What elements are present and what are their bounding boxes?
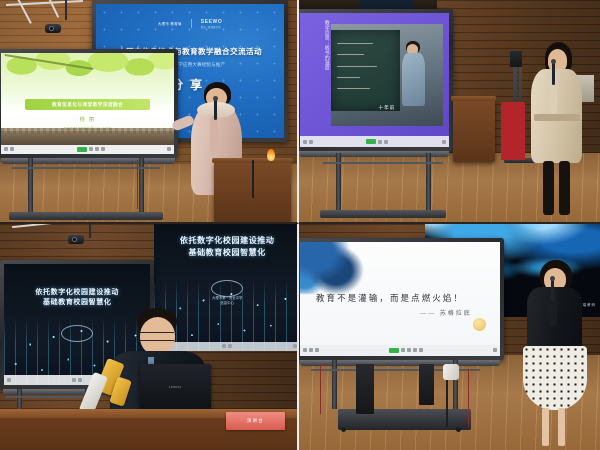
collage-panel-bottom-right: 智慧课堂 • 云端教研 教育不是灌输，而是点燃火焰！ —— 苏格拉底 bbox=[299, 224, 600, 450]
glasses-icon bbox=[140, 332, 174, 341]
purple-screen: 教学反思：板书的温度 bbox=[300, 13, 449, 147]
wooden-lectern bbox=[453, 100, 495, 162]
toolbar-icon-settings[interactable] bbox=[493, 348, 497, 352]
camera-mount bbox=[89, 224, 91, 238]
toolbar-icon-more[interactable] bbox=[419, 348, 423, 352]
quote-display: 教育不是灌输，而是点燃火焰！ —— 苏格拉底 bbox=[299, 238, 504, 360]
collage-panel-top-right: 教学反思：板书的温度 bbox=[299, 0, 600, 224]
video-figure-body bbox=[402, 53, 425, 106]
desk-sign-label: 演讲台 bbox=[247, 418, 264, 424]
quote-attribution: —— 苏格拉底 bbox=[420, 308, 472, 317]
presenter-boot-left bbox=[543, 161, 554, 215]
projected-slide-title-line1: 依托数字化校园建设推动 bbox=[163, 235, 291, 247]
presenter-name: 杨 丽 bbox=[1, 116, 174, 123]
projected-slide-title-line2: 基础教育校园智慧化 bbox=[163, 247, 291, 259]
handheld-microphone bbox=[552, 62, 555, 85]
floor-cable bbox=[137, 160, 138, 209]
chalk-line bbox=[337, 66, 377, 67]
stacked-red-chairs bbox=[501, 102, 525, 160]
chalk-line bbox=[337, 43, 373, 44]
toolbar-icon-settings[interactable] bbox=[442, 140, 446, 144]
lectern-top bbox=[451, 96, 496, 101]
projected-slide-title: 依托数字化校园建设推动 基础教育校园智慧化 bbox=[163, 235, 291, 258]
speaker-box-2 bbox=[419, 364, 434, 405]
toolbar-icon-pen[interactable] bbox=[222, 344, 226, 348]
stand-top-box bbox=[510, 51, 522, 67]
speaker-box bbox=[356, 364, 374, 414]
toolbar-icon-eraser[interactable] bbox=[401, 348, 405, 352]
presenter-right-arm bbox=[210, 116, 218, 152]
secondary-slide-title-line1: 依托数字化校园建设推动 bbox=[13, 288, 142, 298]
video-teacher-figure bbox=[400, 40, 427, 113]
camera-mount bbox=[65, 0, 67, 20]
collage-panel-bottom-left: 依托数字化校园建设推动 基础教育校园智慧化 大理市第一完全中学 信息中心 bbox=[0, 224, 299, 450]
floor-microphone bbox=[443, 364, 458, 380]
presenter-coat-belt bbox=[534, 114, 580, 121]
classroom-video-display: 教学反思：板书的温度 bbox=[299, 9, 453, 151]
soil-decoration bbox=[1, 131, 174, 144]
toolbar-icon-menu[interactable] bbox=[4, 147, 8, 151]
stand-crossbar bbox=[12, 167, 161, 169]
presenter-leg-left bbox=[542, 408, 549, 446]
embedded-video: 十年前 bbox=[331, 24, 442, 126]
green-slide: 教育信息化与课堂教学深度融合 杨 丽 317317360@qq.com bbox=[1, 53, 174, 154]
toolbar-icon-menu[interactable] bbox=[7, 378, 11, 382]
display-toolbar[interactable] bbox=[300, 136, 449, 147]
desk-sign: 演讲台 bbox=[226, 412, 285, 430]
display-toolbar[interactable] bbox=[1, 145, 174, 154]
dali-education-bureau-logo: 大理市 教育局 bbox=[158, 22, 182, 26]
toolbar-icon-menu[interactable] bbox=[303, 348, 307, 352]
seewo-logo: SEEWO 希沃 • 教育数字化 bbox=[201, 19, 223, 29]
toolbar-icon-back[interactable] bbox=[10, 147, 14, 151]
conference-camera bbox=[45, 24, 61, 33]
handheld-microphone bbox=[214, 99, 217, 120]
quote-text: 教育不是灌输，而是点燃火焰！ bbox=[316, 292, 488, 304]
toolbar-icon-pen[interactable] bbox=[72, 378, 76, 382]
slide-badge-icon bbox=[473, 318, 486, 331]
presenter-boot-right bbox=[559, 161, 570, 215]
signal-cable bbox=[320, 364, 321, 414]
projected-slide-org: 大理市第一完全中学 信息中心 bbox=[154, 296, 299, 306]
secondary-screen: 教育信息化与课堂教学深度融合 杨 丽 317317360@qq.com bbox=[1, 53, 174, 154]
toolbar-icon-settings[interactable] bbox=[293, 344, 297, 348]
blackboard bbox=[331, 30, 400, 112]
green-slide-banner-text: 教育信息化与课堂教学深度融合 bbox=[52, 102, 123, 108]
handheld-microphone bbox=[551, 279, 554, 302]
presenter-leg-right bbox=[558, 408, 565, 446]
toolbar-icon-back[interactable] bbox=[309, 348, 313, 352]
toolbar-icon-pen[interactable] bbox=[77, 147, 87, 152]
slide-left-column-text: 教学反思：板书的温度 bbox=[303, 20, 330, 129]
stand-crossbar bbox=[323, 162, 443, 164]
green-slide-banner: 教育信息化与课堂教学深度融合 bbox=[25, 99, 150, 110]
projected-slide-org-line2: 信息中心 bbox=[154, 301, 299, 306]
laptop[interactable]: Lenovo bbox=[140, 364, 211, 414]
school-emblem bbox=[61, 325, 93, 342]
toolbar-icon-eraser[interactable] bbox=[378, 140, 382, 144]
collage-panel-top-left: 大理市 教育局 SEEWO 希沃 • 教育数字化 大理市信息技术与教育教学融合交… bbox=[0, 0, 299, 224]
toolbar-icon-pen[interactable] bbox=[366, 139, 376, 144]
logo-divider bbox=[191, 19, 192, 28]
toolbar-icon-shape[interactable] bbox=[384, 140, 388, 144]
toolbar-icon-eraser[interactable] bbox=[228, 344, 232, 348]
toolbar-icon-eraser[interactable] bbox=[89, 147, 93, 151]
presenter-polka-dot-skirt bbox=[523, 346, 587, 411]
purple-slide: 教学反思：板书的温度 bbox=[300, 13, 449, 147]
presenter-figure bbox=[528, 42, 588, 222]
power-cable bbox=[468, 369, 469, 428]
display-stand-base bbox=[320, 210, 446, 218]
video-caption: 十年前 bbox=[331, 105, 442, 111]
toolbar-icon-home[interactable] bbox=[315, 348, 319, 352]
toolbar-icon-more[interactable] bbox=[101, 147, 105, 151]
chalk-line bbox=[337, 88, 370, 89]
toolbar-icon-back[interactable] bbox=[309, 140, 313, 144]
quote-slide: 教育不是灌输，而是点燃火焰！ —— 苏格拉底 bbox=[300, 242, 500, 356]
photo-collage: 大理市 教育局 SEEWO 希沃 • 教育数字化 大理市信息技术与教育教学融合交… bbox=[0, 0, 600, 450]
slide-logo-row: 大理市 教育局 SEEWO 希沃 • 教育数字化 bbox=[96, 19, 284, 29]
podium-microphone-stand bbox=[252, 160, 254, 198]
caster-wheel bbox=[456, 427, 461, 432]
display-stand-base bbox=[9, 212, 163, 220]
conference-camera bbox=[68, 235, 84, 244]
flame-lamp bbox=[267, 149, 275, 161]
seewo-logo-sub: 希沃 • 教育数字化 bbox=[201, 25, 223, 29]
presenter-figure bbox=[519, 260, 591, 450]
school-emblem bbox=[211, 280, 243, 297]
quote-screen: 教育不是灌输，而是点燃火焰！ —— 苏格拉底 bbox=[300, 242, 500, 356]
toolbar-icon-menu[interactable] bbox=[303, 140, 307, 144]
chalk-line bbox=[337, 54, 365, 55]
toolbar-icon-eraser[interactable] bbox=[78, 378, 82, 382]
toolbar-icon-shape[interactable] bbox=[95, 147, 99, 151]
quote-slide-wave-decoration bbox=[300, 242, 372, 294]
toolbar-icon-pen[interactable] bbox=[389, 348, 399, 353]
secondary-display: 教育信息化与课堂教学深度融合 杨 丽 317317360@qq.com bbox=[0, 49, 178, 158]
toolbar-icon-shape[interactable] bbox=[407, 348, 411, 352]
secondary-slide-title: 依托数字化校园建设推动 基础教育校园智慧化 bbox=[13, 288, 142, 308]
laptop-brand-label: Lenovo bbox=[169, 385, 182, 389]
chalk-line bbox=[337, 77, 360, 78]
toolbar-icon-select[interactable] bbox=[413, 348, 417, 352]
toolbar-icon-settings[interactable] bbox=[167, 147, 171, 151]
display-toolbar[interactable] bbox=[300, 345, 500, 355]
